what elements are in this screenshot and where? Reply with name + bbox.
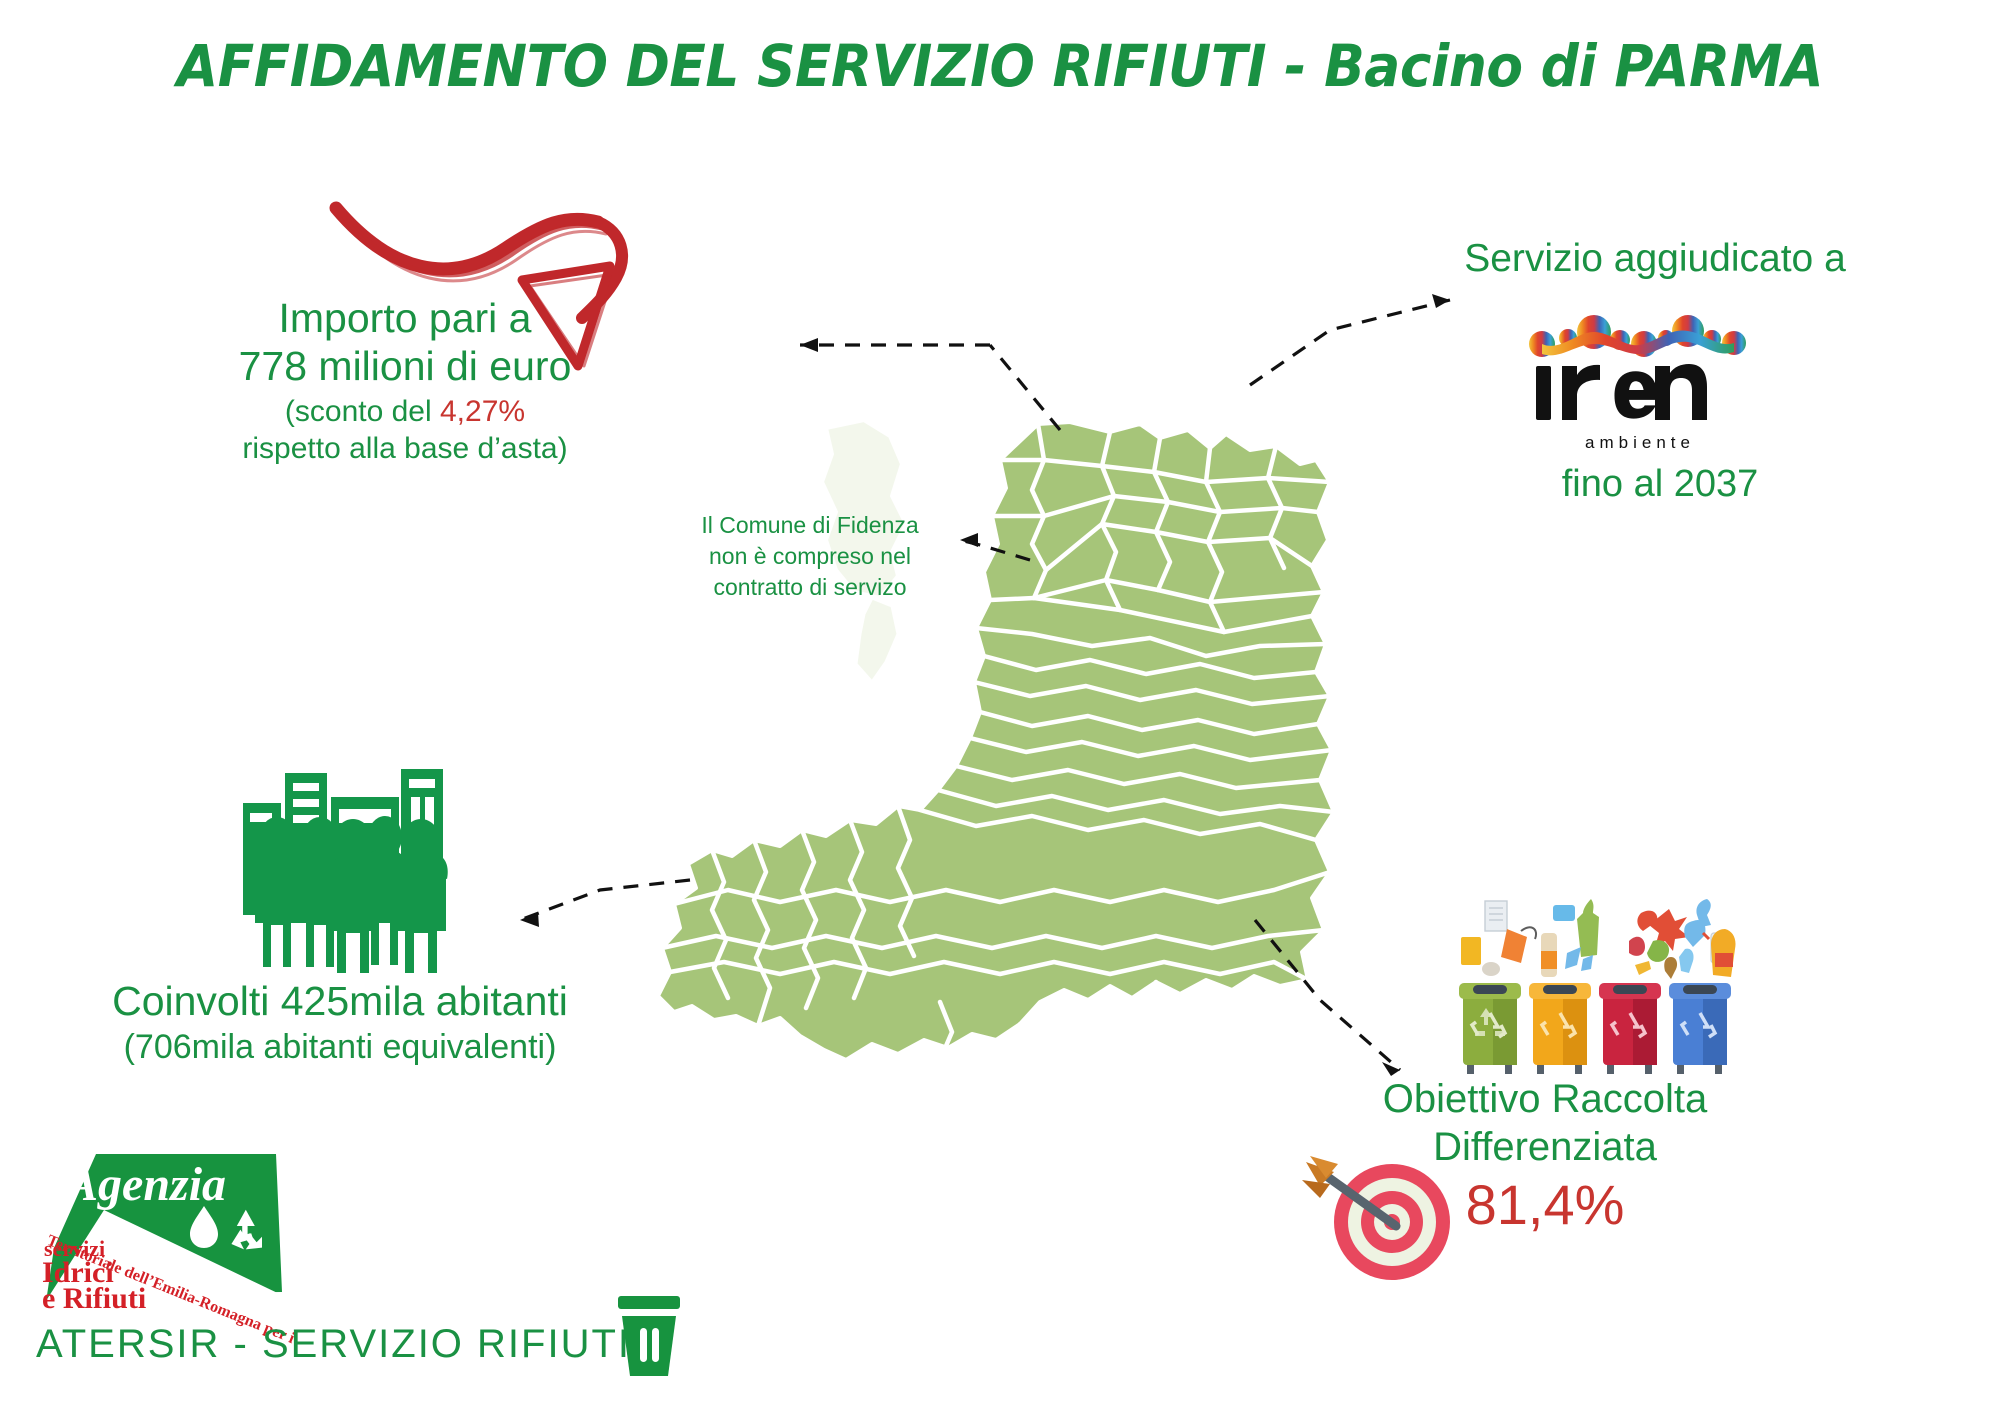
importo-line1: Importo pari a [170, 295, 640, 343]
fidenza-line1: Il Comune di Fidenza [660, 510, 960, 541]
obiettivo-line2: Differenziata [1330, 1123, 1760, 1171]
obiettivo-line1: Obiettivo Raccolta [1330, 1075, 1760, 1123]
callout-obiettivo: Obiettivo Raccolta Differenziata 81,4% [1330, 1075, 1760, 1237]
infographic-canvas: AFFIDAMENTO DEL SERVIZIO RIFIUTI - Bacin… [0, 0, 2000, 1414]
fidenza-line2: non è compreso nel [660, 541, 960, 572]
bin-blue [1669, 983, 1731, 1074]
footer-caption: ATERSIR - SERVIZIO RIFIUTI [36, 1322, 631, 1367]
waste-items [1461, 899, 1736, 979]
coinvolti-line1: Coinvolti 425mila abitanti [60, 978, 620, 1026]
atersir-word-agenzia: Agenzia [63, 1158, 226, 1211]
atersir-logo: Agenzia Territoriale dell’Emilia-Romagna… [30, 1152, 320, 1312]
bin-red [1599, 983, 1661, 1074]
importo-sub: (sconto del 4,27% rispetto alla base d’a… [170, 394, 640, 467]
importo-line2: 778 milioni di euro [170, 343, 640, 391]
coinvolti-line2: (706mila abitanti equivalenti) [60, 1028, 620, 1067]
iren-tagline: ambiente [1585, 433, 1695, 452]
callout-fino-al: fino al 2037 [1450, 462, 1870, 506]
fidenza-line3: contratto di servizo [660, 572, 960, 603]
iren-wordmark [1536, 364, 1707, 420]
iren-ambiente-logo: ambiente [1520, 318, 1760, 458]
callout-fidenza-note: Il Comune di Fidenza non è compreso nel … [660, 510, 960, 603]
iren-wave-icon [1529, 315, 1746, 357]
obiettivo-percent: 81,4% [1330, 1173, 1760, 1237]
bin-yellow [1529, 983, 1591, 1074]
importo-sub-line2: rispetto alla base d’asta) [170, 431, 640, 468]
connector-arrowheads [520, 294, 1450, 1076]
importo-sub-prefix: (sconto del [285, 395, 440, 428]
callout-importo: Importo pari a 778 milioni di euro (scon… [170, 295, 640, 467]
recycling-bins-icon [1455, 895, 1740, 1090]
importo-discount-value: 4,27% [440, 395, 525, 428]
callout-coinvolti: Coinvolti 425mila abitanti (706mila abit… [60, 978, 620, 1067]
callout-aggiudicato-heading: Servizio aggiudicato a [1390, 236, 1920, 281]
people-group-icon [235, 745, 450, 975]
atersir-line-rifiuti: e Rifiuti [42, 1282, 146, 1315]
bin-green [1459, 983, 1521, 1074]
trash-bin-icon [614, 1290, 684, 1380]
